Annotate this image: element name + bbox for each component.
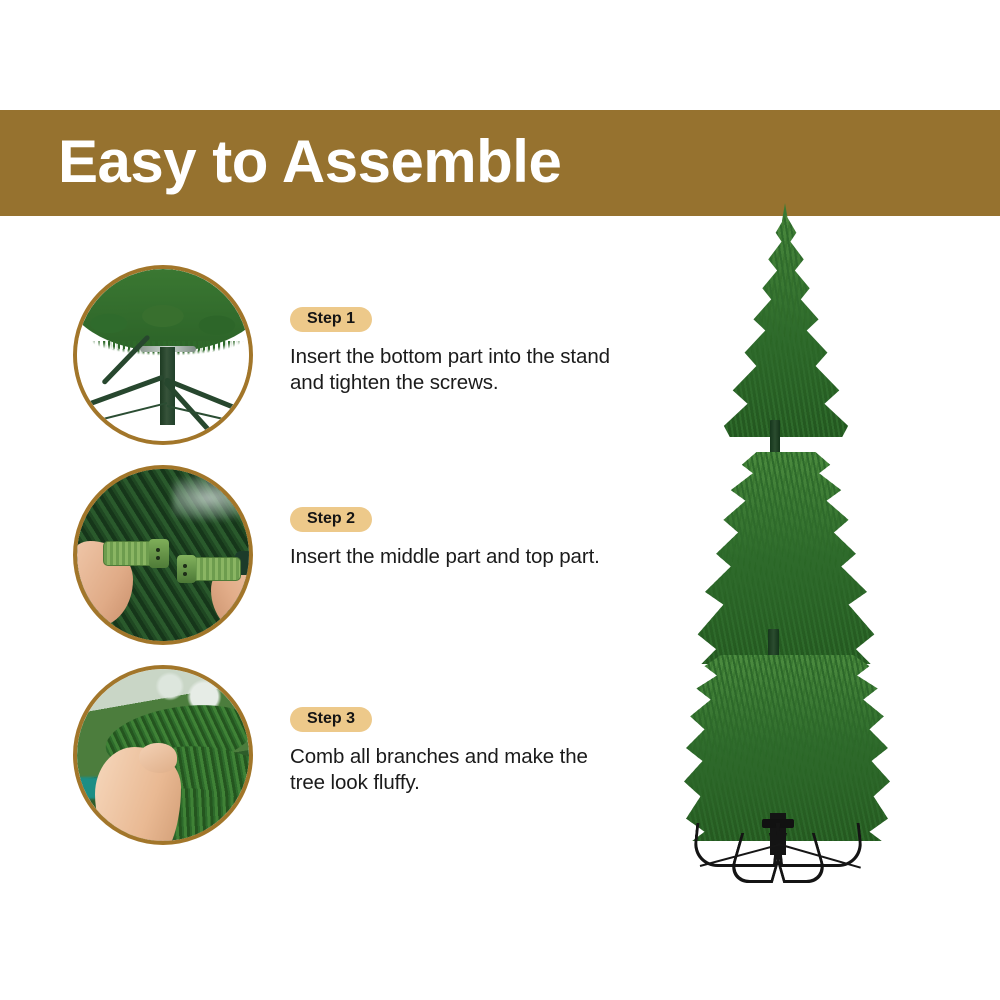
step-3-description: Comb all branches and make the tree look… [290,744,620,796]
step-2-text-block: Step 2 Insert the middle part and top pa… [290,507,620,570]
male-connector-head [177,555,196,583]
step-2-description: Insert the middle part and top part. [290,544,620,570]
step-3-photo [73,665,253,845]
step-row-1: Step 1 Insert the bottom part into the s… [0,265,640,445]
step-1-badge: Step 1 [290,307,372,332]
tree-section-top [712,215,860,437]
background-highlight [173,475,249,521]
step-1-text-block: Step 1 Insert the bottom part into the s… [290,307,620,396]
step-2-badge: Step 2 [290,507,372,532]
tree-stand [678,813,894,891]
step-row-3: Step 3 Comb all branches and make the tr… [0,665,640,845]
assembled-christmas-tree-image [660,215,990,895]
step-3-badge: Step 3 [290,707,372,732]
connector-pin [156,548,160,552]
page-title: Easy to Assemble [58,132,561,192]
step-2-photo [73,465,253,645]
step-1-description: Insert the bottom part into the stand an… [290,344,620,396]
tree-section-middle [694,452,878,664]
female-connector-head [149,539,169,568]
step-row-2: Step 2 Insert the middle part and top pa… [0,465,640,645]
step-3-text-block: Step 3 Comb all branches and make the tr… [290,707,620,796]
connector-pin [183,572,187,576]
thumb-finger [139,743,177,773]
step-1-photo [73,265,253,445]
connector-pin [156,556,160,560]
tree-connector-upper [770,420,780,456]
header-banner: Easy to Assemble [0,110,1000,216]
connector-pin [183,564,187,568]
infographic-page: Easy to Assemble Step 1 Insert the botto… [0,0,1000,1000]
